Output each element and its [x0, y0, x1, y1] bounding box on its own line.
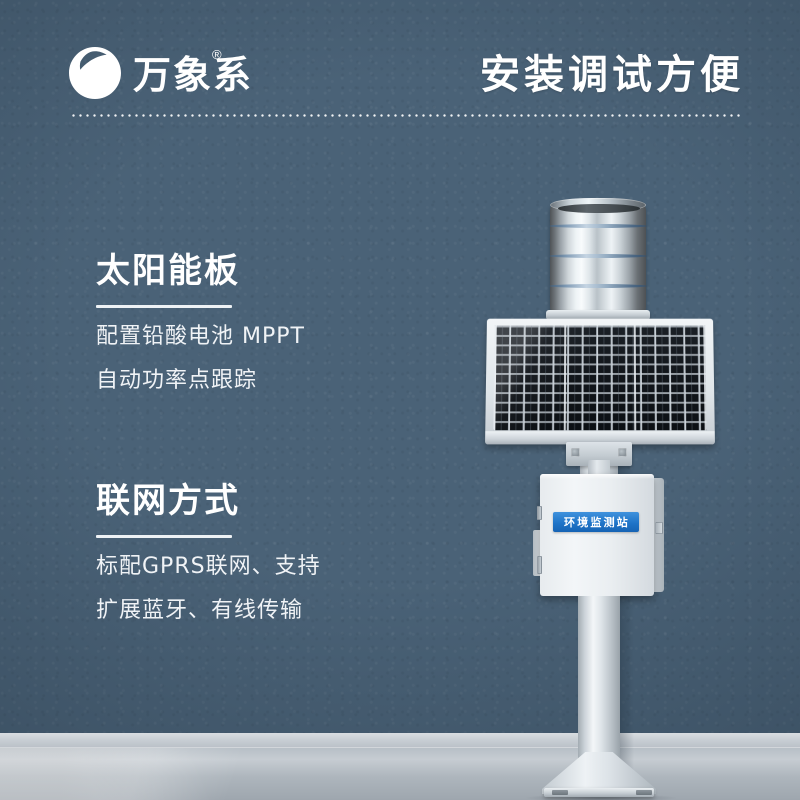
- enclosure-top-highlight: [540, 474, 654, 479]
- feature-line: 配置铅酸电池 MPPT: [96, 326, 305, 348]
- feature-rule: [96, 305, 232, 308]
- globe-swoosh-icon: [66, 44, 124, 102]
- enclosure-hinge: [537, 506, 542, 520]
- gauge-band: [549, 284, 647, 288]
- gauge-body: [550, 204, 646, 314]
- nameplate-text: 环境监测站: [562, 517, 630, 528]
- feature-block-solar-panel: 太阳能板 配置铅酸电池 MPPT 自动功率点跟踪: [96, 252, 305, 392]
- registered-mark: ®: [212, 48, 222, 61]
- gauge-band: [549, 224, 647, 228]
- feature-line: 标配GPRS联网、支持: [96, 556, 321, 578]
- product-banner: 万象系 ® 安装调试方便 太阳能板 配置铅酸电池 MPPT 自动功率点跟踪 联网…: [0, 0, 800, 800]
- page-title: 安装调试方便: [480, 48, 744, 102]
- gauge-band: [549, 254, 647, 258]
- solar-cells: [493, 326, 706, 431]
- feature-line: 自动功率点跟踪: [96, 370, 305, 392]
- feature-title: 联网方式: [96, 482, 321, 521]
- gauge-rim: [550, 198, 646, 212]
- header-dotted-divider: [70, 114, 742, 117]
- feature-rule: [96, 535, 232, 538]
- support-pole-lower: [578, 596, 620, 774]
- brand-name: 万象系: [133, 56, 253, 94]
- enclosure-latch: [655, 522, 663, 534]
- gauge-aperture: [558, 204, 640, 213]
- feature-block-network: 联网方式 标配GPRS联网、支持 扩展蓝牙、有线传输: [96, 482, 321, 622]
- bolt-icon: [571, 448, 580, 457]
- anchor-bolt-icon: [552, 790, 568, 795]
- anchor-bolt-icon: [636, 790, 652, 795]
- nameplate: 环境监测站: [553, 512, 639, 532]
- rain-gauge-cylinder: [550, 196, 646, 320]
- brand-logo: 万象系: [66, 44, 253, 102]
- enclosure-side-panel: [654, 478, 664, 592]
- solar-panel: [485, 319, 715, 445]
- enclosure-hinge: [537, 556, 542, 574]
- solar-panel-glass: [493, 326, 706, 431]
- bolt-icon: [618, 448, 627, 457]
- control-enclosure-box: 环境监测站: [540, 474, 654, 596]
- feature-line: 扩展蓝牙、有线传输: [96, 600, 321, 622]
- product-image: 环境监测站: [480, 196, 720, 800]
- feature-title: 太阳能板: [96, 252, 305, 291]
